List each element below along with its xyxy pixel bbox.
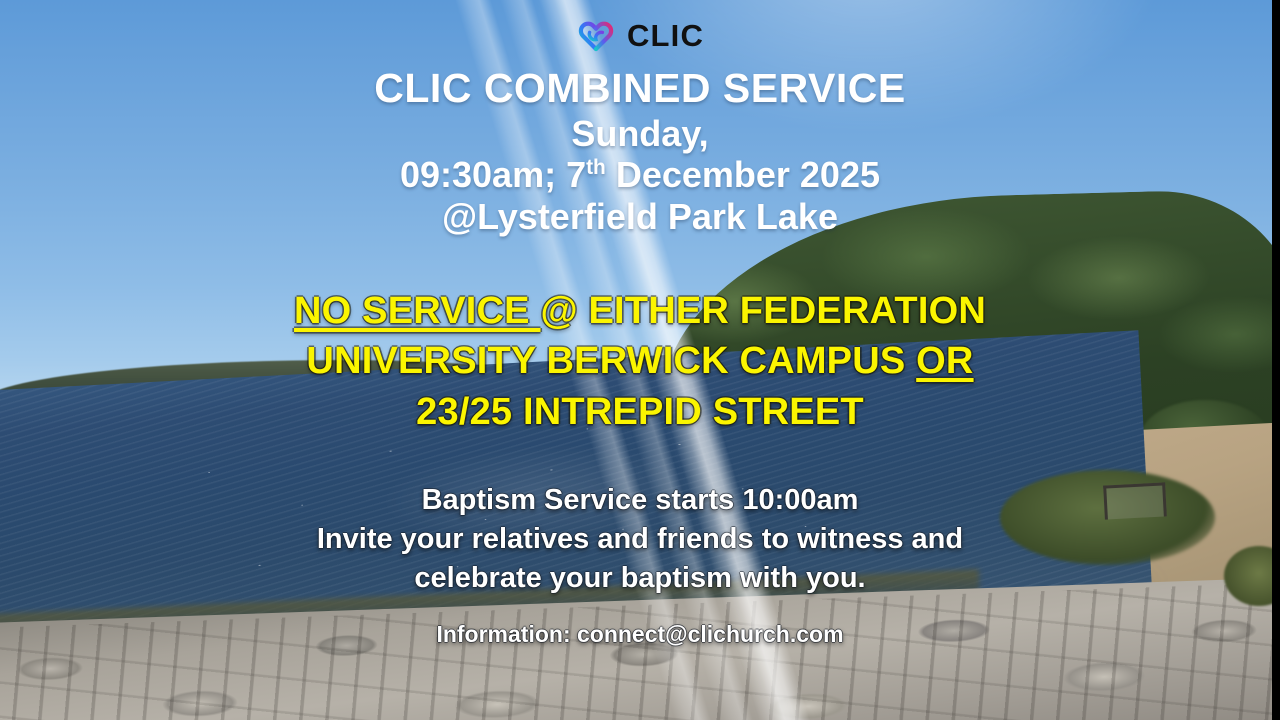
headline-line-2: Sunday, [374,113,905,155]
slide-content: CLIC CLIC COMBINED SERVICE Sunday, 09:30… [0,0,1280,720]
no-service-emphasis: NO SERVICE [294,290,540,332]
date-ordinal-suffix: th [586,156,606,179]
warning-line-1-rest: @ EITHER FEDERATION [540,290,986,332]
warning-line-2: UNIVERSITY BERWICK CAMPUS OR [294,336,986,387]
clic-logo: CLIC [576,14,704,56]
service-time: 09:30am; 7 [400,154,586,195]
baptism-line-1: Baptism Service starts 10:00am [317,481,963,520]
clic-wordmark: CLIC [627,20,704,51]
baptism-info-block: Baptism Service starts 10:00am Invite yo… [317,481,963,597]
headline-line-1: CLIC COMBINED SERVICE [374,65,905,113]
service-date: December 2025 [606,154,880,195]
baptism-line-2: Invite your relatives and friends to wit… [317,520,963,559]
headline-line-3: 09:30am; 7th December 2025 [374,154,905,196]
warning-line-1: NO SERVICE @ EITHER FEDERATION [294,286,986,337]
warning-line-3-address: 23/25 INTREPID STREET [294,387,986,438]
headline-line-4-venue: @Lysterfield Park Lake [374,196,905,238]
or-emphasis: OR [916,340,973,382]
heart-logo-icon [576,17,616,53]
warning-line-2-main: UNIVERSITY BERWICK CAMPUS [306,340,916,382]
baptism-line-3: celebrate your baptism with you. [317,559,963,598]
contact-info: Information: connect@clichurch.com [436,621,843,648]
headline-block: CLIC COMBINED SERVICE Sunday, 09:30am; 7… [374,65,905,238]
slide-canvas: CLIC CLIC COMBINED SERVICE Sunday, 09:30… [0,0,1280,720]
no-service-notice: NO SERVICE @ EITHER FEDERATION UNIVERSIT… [294,286,986,438]
